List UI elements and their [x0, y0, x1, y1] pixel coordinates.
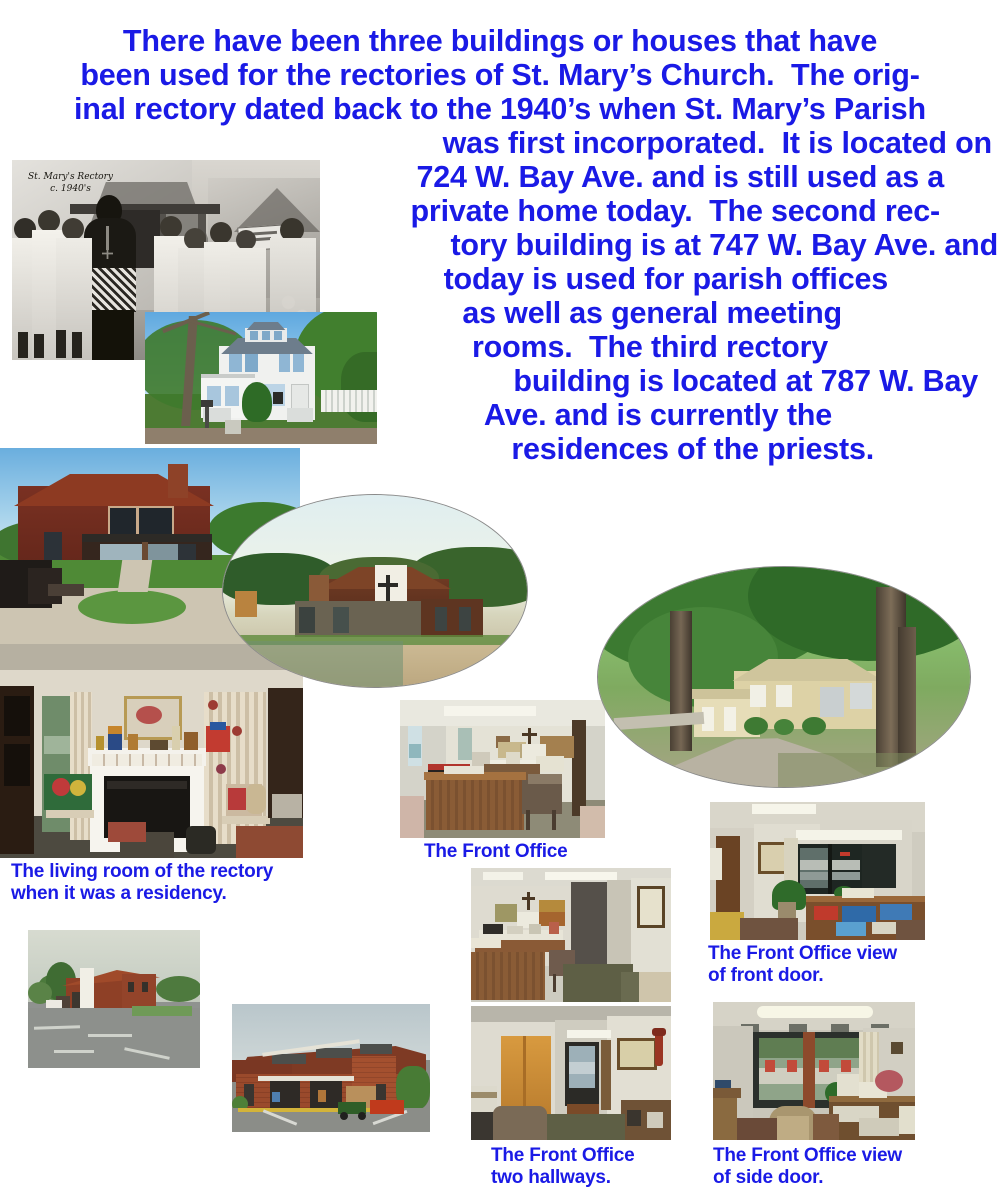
body-line-1: There have been three buildings or house… — [0, 24, 1000, 58]
office-hallway-bottom-photo — [471, 1006, 671, 1140]
caption-two-hallways: The Front Office two hallways. — [491, 1145, 635, 1189]
historic-photo-handwritten-caption: St. Mary's Rectory c. 1940's — [28, 172, 113, 195]
priests-residence-oval-photo — [597, 566, 971, 788]
church-construction-oval-photo — [222, 494, 528, 688]
caption-side-door: The Front Office view of side door. — [713, 1145, 902, 1189]
front-office-front-door-photo — [710, 802, 925, 940]
body-line-4: was first incorporated. It is located on — [0, 126, 1000, 160]
caption-living-room: The living room of the rectory when it w… — [11, 861, 273, 905]
white-house-photo — [145, 312, 377, 444]
parking-lot-church-photo — [28, 930, 200, 1068]
front-office-photo — [400, 700, 605, 838]
slide-page: St. Mary's Rectory c. 1940's — [0, 0, 1000, 1200]
front-office-side-door-photo — [713, 1002, 915, 1140]
body-line-2: been used for the rectories of St. Mary’… — [0, 58, 1000, 92]
office-hallway-top-photo — [471, 868, 671, 1002]
garage-building-photo — [232, 1004, 430, 1132]
caption-front-office: The Front Office — [424, 841, 568, 863]
body-line-3: inal rectory dated back to the 1940’s wh… — [0, 92, 1000, 126]
caption-front-door: The Front Office view of front door. — [708, 943, 897, 987]
